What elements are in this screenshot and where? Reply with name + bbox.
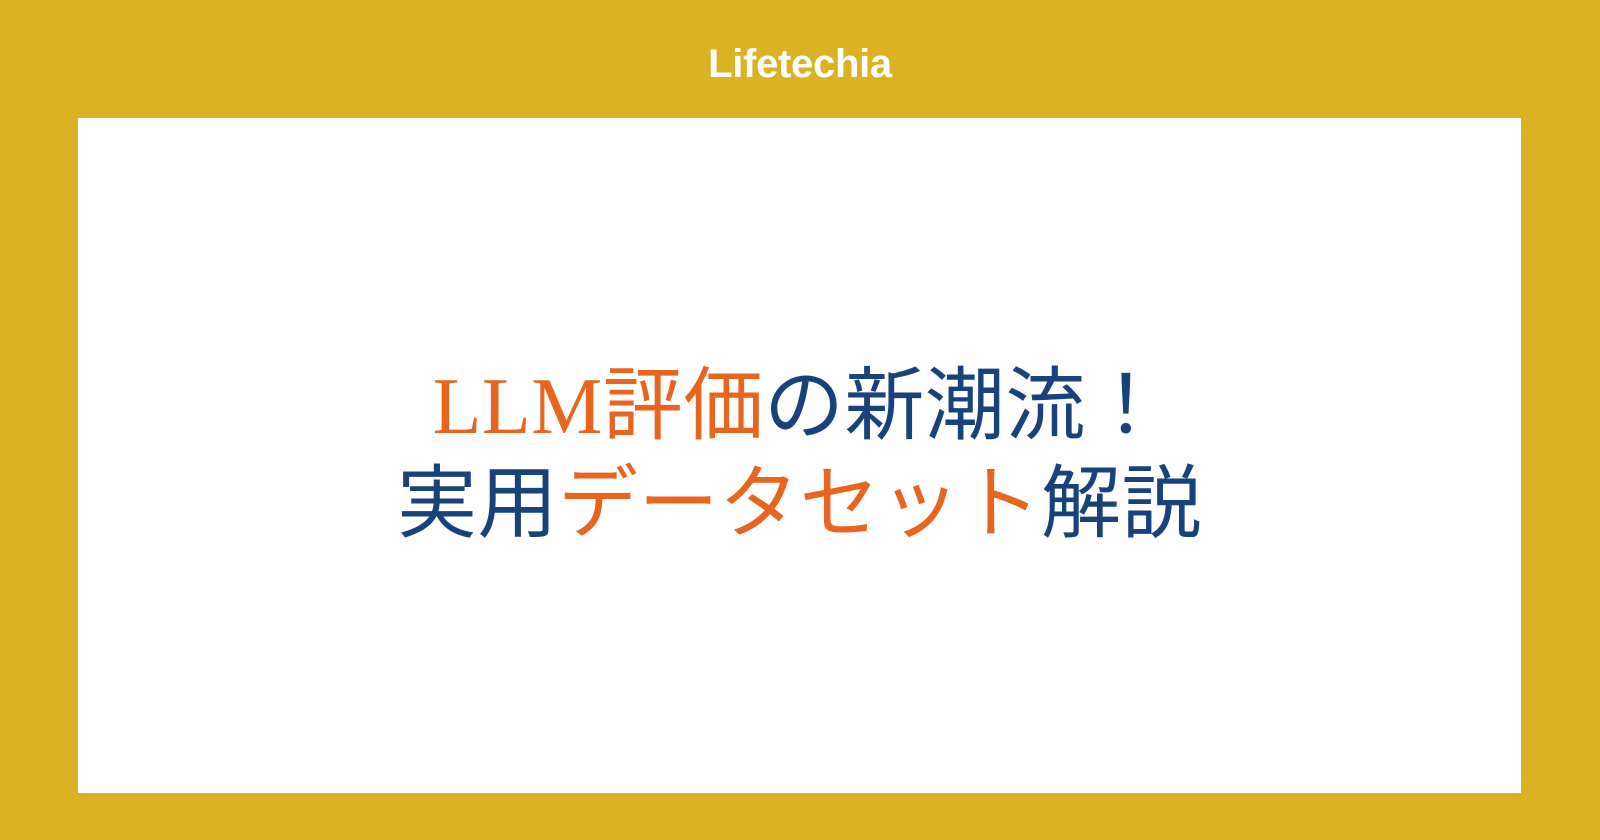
site-title: Lifetechia <box>0 40 1600 88</box>
slide-canvas: Lifetechia LLM評価の新潮流！ 実用データセット解説 <box>0 0 1600 840</box>
headline-line-2-segment-3: 解説 <box>1041 461 1202 549</box>
headline-line-2-segment-1: 実用 <box>397 461 558 549</box>
headline-line-2-segment-2: データセット <box>558 461 1041 549</box>
headline-line-1-segment-1: LLM評価 <box>433 363 764 451</box>
headline-line-1: LLM評価の新潮流！ <box>78 358 1521 456</box>
headline-line-2: 実用データセット解説 <box>78 456 1521 554</box>
headline-line-1-segment-2: の新潮流！ <box>764 363 1167 451</box>
headline: LLM評価の新潮流！ 実用データセット解説 <box>78 358 1521 554</box>
title-card: LLM評価の新潮流！ 実用データセット解説 <box>78 118 1521 793</box>
